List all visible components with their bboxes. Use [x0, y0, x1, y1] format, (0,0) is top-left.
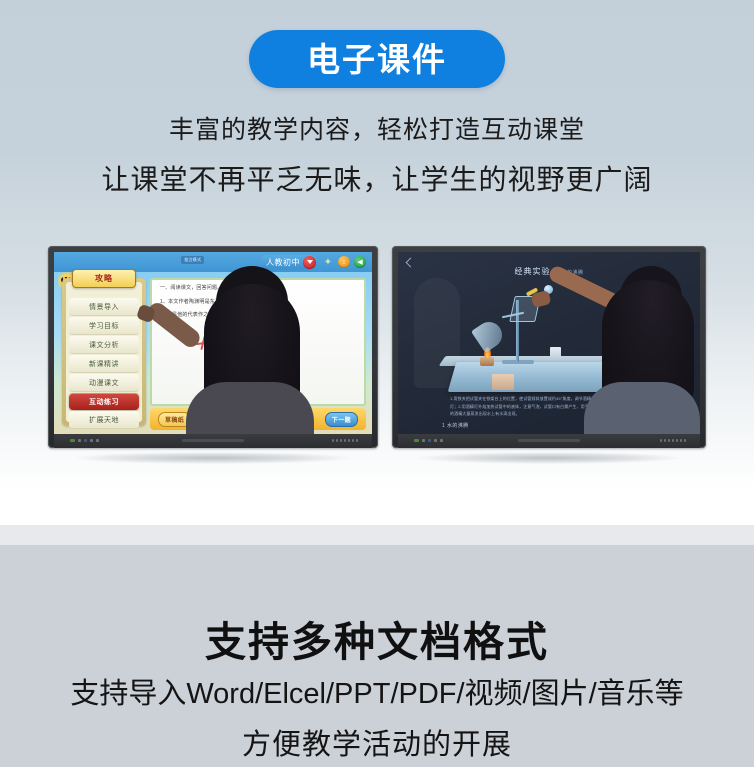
courseware-app: 批注模式 人教初中 ✦ ↓ ◀ 攻略	[54, 252, 372, 434]
nav-item-text-analysis[interactable]: 课文分析	[69, 336, 139, 354]
speaker-grille	[660, 439, 686, 442]
download-icon[interactable]: ↓	[338, 256, 350, 268]
beaker	[550, 347, 561, 360]
volume-icon[interactable]: ◀	[354, 256, 366, 268]
nav-item-label: 学习目标	[89, 321, 119, 331]
student-silhouette-left	[182, 258, 312, 434]
nav-item-expand-world[interactable]: 扩展天地	[69, 411, 139, 429]
experiment-app: 经典实验——水的沸腾	[398, 252, 700, 434]
star-icon[interactable]: ✦	[322, 256, 334, 268]
left-device-shadow	[74, 452, 351, 464]
bottom-line-2: 方便教学活动的开展	[0, 721, 754, 763]
status-leds	[70, 439, 99, 442]
alcohol-burner	[480, 357, 494, 366]
bottom-heading: 支持多种文档格式	[0, 608, 754, 668]
nav-item-interactive-practice[interactable]: 互动练习	[69, 393, 139, 410]
brand-plate	[182, 439, 244, 442]
bottom-section: 支持多种文档格式 支持导入Word/Elcel/PPT/PDF/视频/图片/音乐…	[0, 545, 754, 767]
right-device-bezel: 经典实验——水的沸腾	[392, 246, 706, 448]
nav-item-new-lesson[interactable]: 新课精讲	[69, 355, 139, 373]
status-leds	[414, 439, 443, 442]
top-section: 电子课件 丰富的教学内容，轻松打造互动课堂 让课堂不再平乏无味，让学生的视野更广…	[0, 0, 754, 506]
right-device: 经典实验——水的沸腾	[392, 246, 706, 448]
nav-menu-list: 情景导入 学习目标 课文分析 新课精讲 动漫课文 互动练习 扩展天地	[66, 282, 142, 422]
left-device-chin	[54, 434, 372, 448]
left-device-screen: 批注模式 人教初中 ✦ ↓ ◀ 攻略	[54, 252, 372, 434]
experiment-footer: 1 水的沸腾	[442, 422, 469, 429]
nav-item-situation-intro[interactable]: 情景导入	[69, 298, 139, 316]
brand-plate	[518, 439, 580, 442]
subtitle-line-1: 丰富的教学内容，轻松打造互动课堂	[0, 110, 754, 146]
right-device-chin	[398, 434, 700, 448]
student-silhouette-right	[580, 256, 700, 434]
promo-page: 电子课件 丰富的教学内容，轻松打造互动课堂 让课堂不再平乏无味，让学生的视野更广…	[0, 0, 754, 767]
section-divider-white	[0, 506, 754, 525]
nav-item-animated-text[interactable]: 动漫课文	[69, 374, 139, 392]
badge-label: 电子课件	[307, 43, 447, 76]
nav-item-label: 新课精讲	[89, 359, 119, 369]
courseware-nav-panel: 攻略 情景导入 学习目标 课文分析 新课精讲 动漫课文 互动练习 扩展天地	[62, 278, 146, 426]
nav-item-learning-goal[interactable]: 学习目标	[69, 317, 139, 335]
wood-block	[492, 374, 514, 390]
right-device-shadow	[417, 452, 681, 464]
panel-title-label: 攻略	[95, 273, 113, 284]
speaker-grille	[332, 439, 358, 442]
section-divider-light	[0, 525, 754, 545]
nav-item-label: 动漫课文	[89, 378, 119, 388]
panel-title-plate: 攻略	[72, 269, 136, 288]
nav-item-label: 课文分析	[89, 340, 119, 350]
experiment-title-main: 经典实验	[514, 267, 550, 276]
nav-item-label: 互动练习	[89, 397, 119, 407]
nav-item-label: 情景导入	[89, 302, 119, 312]
section-badge: 电子课件	[249, 30, 505, 88]
test-tube	[471, 317, 507, 353]
subtitle-line-2: 让课堂不再平乏无味，让学生的视野更广阔	[0, 158, 754, 198]
bottom-line-1: 支持导入Word/Elcel/PPT/PDF/视频/图片/音乐等	[0, 670, 754, 712]
right-device-screen: 经典实验——水的沸腾	[398, 252, 700, 434]
left-device-bezel: 批注模式 人教初中 ✦ ↓ ◀ 攻略	[48, 246, 378, 448]
nav-item-label: 扩展天地	[89, 415, 119, 425]
left-device: 批注模式 人教初中 ✦ ↓ ◀ 攻略	[48, 246, 378, 448]
next-question-button[interactable]: 下一题	[325, 412, 358, 427]
